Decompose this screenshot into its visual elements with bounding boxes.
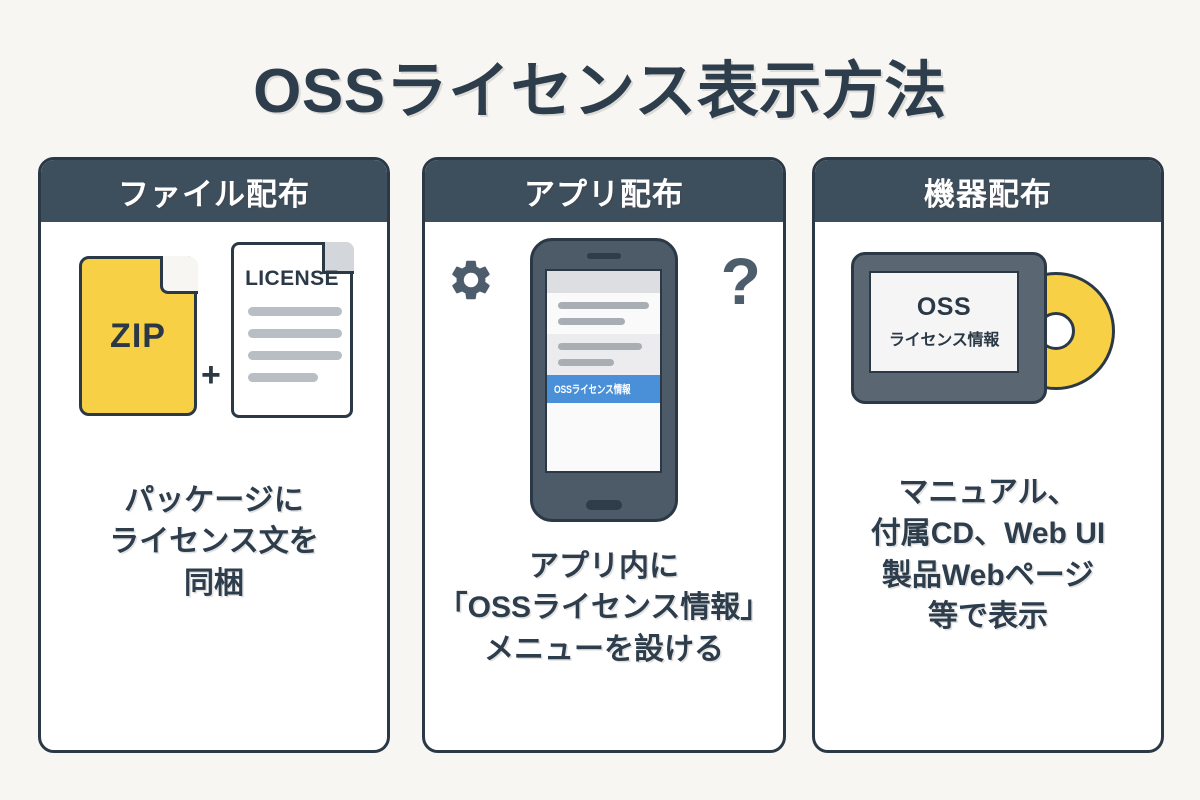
card-device-distribution: 機器配布 OSS ライセンス情報 マニュアル、 付属CD、Web UI 製品We… [812, 157, 1164, 753]
license-document-icon: LICENSE [231, 242, 353, 418]
device-cd-illustration: OSS ライセンス情報 [815, 242, 1161, 462]
card-body-device-distribution: OSS ライセンス情報 マニュアル、 付属CD、Web UI 製品Webページ … [815, 222, 1161, 750]
license-text-line [248, 307, 342, 316]
zip-file-icon: ZIP [79, 256, 197, 416]
placeholder-line [558, 343, 642, 350]
card-caption-device-distribution: マニュアル、 付属CD、Web UI 製品Webページ 等で表示 [815, 472, 1161, 638]
license-title: LICENSE [234, 267, 350, 291]
card-header-file-distribution: ファイル配布 [41, 160, 387, 222]
card-body-file-distribution: ZIP + LICENSE パッケージに ライセンス文を 同梱 [41, 222, 387, 750]
gear-icon [447, 256, 495, 304]
card-header-app-distribution: アプリ配布 [425, 160, 783, 222]
phone-menu-item-oss-license[interactable]: OSSライセンス情報 [547, 375, 660, 403]
license-text-lines [248, 307, 342, 395]
card-header-label: アプリ配布 [524, 169, 684, 214]
phone-menu-row [547, 293, 660, 334]
question-mark-icon: ? [721, 248, 761, 314]
phone-illustration: ? OSSライセンス情報 [425, 232, 783, 532]
license-text-line [248, 373, 318, 382]
phone-home-button[interactable] [586, 500, 622, 510]
card-header-device-distribution: 機器配布 [815, 160, 1161, 222]
phone-speaker [587, 253, 621, 259]
zip-license-illustration: ZIP + LICENSE [41, 234, 387, 464]
infographic-root: OSSライセンス表示方法 ファイル配布 ZIP + LICENSE [0, 0, 1200, 800]
page-title: OSSライセンス表示方法 [0, 40, 1200, 130]
card-header-label: ファイル配布 [118, 169, 310, 214]
phone-menu-item-label: OSSライセンス情報 [554, 381, 630, 397]
card-body-app-distribution: ? OSSライセンス情報 [425, 222, 783, 750]
device-screen-title: OSS [917, 294, 971, 322]
phone-menu-row [547, 334, 660, 375]
zip-label: ZIP [82, 317, 194, 356]
placeholder-line [558, 359, 614, 366]
card-caption-app-distribution: アプリ内に 「OSSライセンス情報」 メニューを設ける [425, 546, 783, 670]
phone-status-bar [547, 271, 660, 293]
device-icon: OSS ライセンス情報 [851, 252, 1047, 404]
smartphone-icon: OSSライセンス情報 [530, 238, 678, 522]
card-app-distribution: アプリ配布 ? [422, 157, 786, 753]
card-file-distribution: ファイル配布 ZIP + LICENSE [38, 157, 390, 753]
license-text-line [248, 351, 342, 360]
device-screen-subtitle: ライセンス情報 [889, 326, 999, 350]
plus-sign: + [201, 356, 221, 395]
device-screen: OSS ライセンス情報 [869, 271, 1019, 373]
placeholder-line [558, 318, 625, 325]
license-text-line [248, 329, 342, 338]
placeholder-line [558, 302, 649, 309]
card-caption-file-distribution: パッケージに ライセンス文を 同梱 [41, 480, 387, 604]
card-header-label: 機器配布 [924, 169, 1052, 214]
phone-screen: OSSライセンス情報 [545, 269, 662, 473]
zip-fold-corner [160, 256, 198, 294]
